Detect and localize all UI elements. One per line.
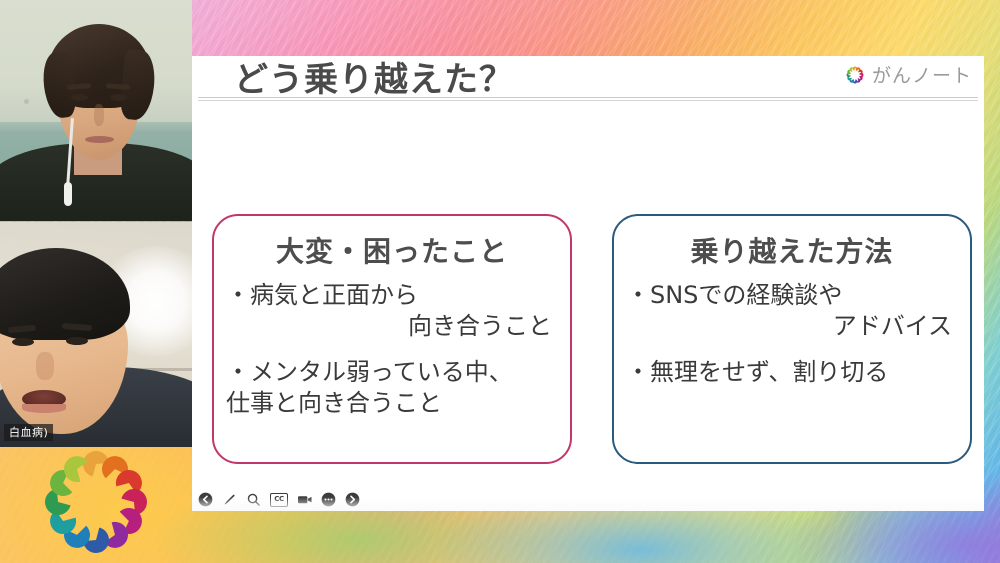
solutions-box: 乗り越えた方法 ・SNSでの経験談や アドバイス ・無理をせず、割り切る	[612, 214, 972, 464]
brand-wheel-icon	[845, 65, 865, 85]
participant-name-label: 白血病)	[4, 424, 53, 441]
participant-video-1[interactable]	[0, 0, 192, 221]
list-item: 仕事と向き合うこと	[226, 388, 558, 419]
problems-box: 大変・困ったこと ・病気と正面から 向き合うこと ・メンタル弱っている中、 仕事…	[212, 214, 572, 464]
video-2-nose	[36, 352, 54, 380]
brand-name: がんノート	[872, 61, 972, 88]
video-2-lower-lip	[22, 404, 66, 413]
list-item: ・メンタル弱っている中、	[226, 357, 558, 388]
brand-logo: がんノート	[845, 61, 972, 88]
problems-box-list: ・病気と正面から 向き合うこと ・メンタル弱っている中、 仕事と向き合うこと	[214, 280, 570, 419]
video-1-mouth	[85, 136, 114, 143]
list-item: ・無理をせず、割り切る	[626, 357, 958, 388]
video-2-eye-left	[12, 338, 34, 346]
problems-box-heading: 大変・困ったこと	[214, 230, 570, 270]
list-item: ・病気と正面から	[226, 280, 558, 311]
solutions-box-heading: 乗り越えた方法	[614, 230, 970, 270]
solutions-box-list: ・SNSでの経験談や アドバイス ・無理をせず、割り切る	[614, 280, 970, 388]
slide-body: 大変・困ったこと ・病気と正面から 向き合うこと ・メンタル弱っている中、 仕事…	[192, 106, 984, 511]
participant-video-2[interactable]: 白血病)	[0, 222, 192, 447]
list-item: ・SNSでの経験談や	[626, 280, 958, 311]
video-1-wall-mark	[24, 99, 29, 104]
video-1-eye-right	[110, 94, 127, 101]
list-item: 向き合うこと	[226, 311, 558, 342]
title-divider	[198, 97, 978, 101]
video-1-nose	[94, 104, 104, 126]
slide-title: どう乗り越えた？	[234, 52, 514, 101]
list-item: アドバイス	[626, 311, 958, 342]
rainbow-wheel-icon	[36, 448, 156, 556]
video-2-eye-right	[66, 337, 88, 345]
screen-root: 白血病) どう乗り越えた？ がんノート	[0, 0, 1000, 563]
video-1-eye-left	[71, 94, 88, 101]
slide-header: どう乗り越えた？ がんノート	[192, 56, 984, 106]
slide-bottom-glare	[192, 497, 984, 511]
video-1-earphone-remote	[64, 182, 72, 206]
presentation-slide: どう乗り越えた？ がんノート 大変・困ったこと	[192, 56, 984, 511]
